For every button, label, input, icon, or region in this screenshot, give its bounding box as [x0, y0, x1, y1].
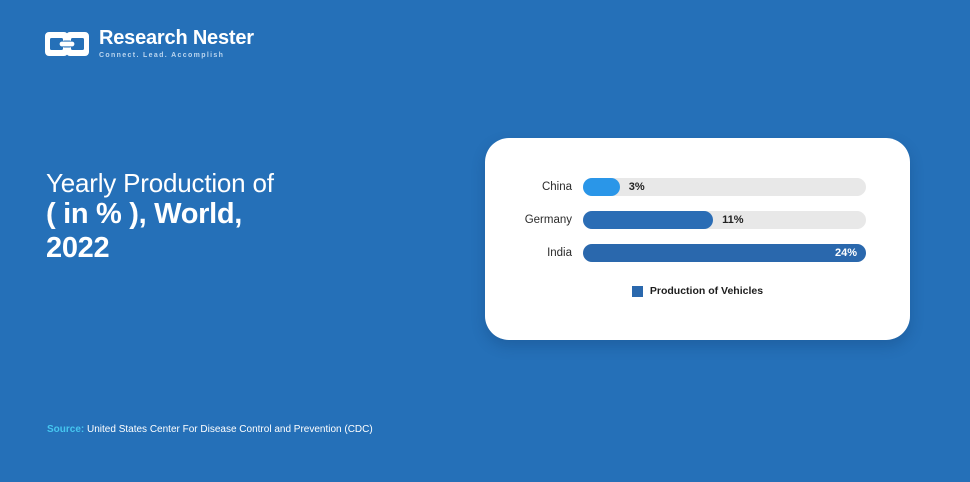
chart-card: China 3% Germany 11% India 24%	[485, 138, 910, 340]
brand-logo: Research Nester Connect. Lead. Accomplis…	[44, 28, 254, 61]
bar-value-label: 24%	[835, 247, 857, 259]
bar-category-label: Germany	[485, 214, 583, 226]
page-title: Yearly Production of ( in % ), World, 20…	[46, 168, 446, 266]
legend-swatch-icon	[632, 286, 643, 297]
bar-value-label: 11%	[722, 214, 743, 226]
bar-chart: China 3% Germany 11% India 24%	[485, 172, 910, 271]
bar-row: China 3%	[485, 172, 910, 202]
bar-fill	[583, 244, 866, 262]
source-label: Source:	[47, 424, 84, 435]
source-text: United States Center For Disease Control…	[87, 424, 373, 435]
bar-track: 11%	[583, 211, 866, 229]
brand-tagline: Connect. Lead. Accomplish	[99, 51, 254, 61]
bar-row: Germany 11%	[485, 205, 910, 235]
bar-row: India 24%	[485, 238, 910, 268]
bar-value-label: 3%	[629, 181, 645, 193]
brand-logo-text: Research Nester Connect. Lead. Accomplis…	[99, 28, 254, 61]
source-line: Source: United States Center For Disease…	[47, 423, 373, 436]
bar-category-label: China	[485, 181, 583, 193]
interlocking-links-logo-icon	[44, 29, 90, 59]
bar-track: 24%	[583, 244, 866, 262]
page-title-line-2: ( in % ), World,	[46, 198, 446, 232]
chart-legend: Production of Vehicles	[485, 285, 910, 297]
bar-fill	[583, 211, 713, 229]
legend-item-label: Production of Vehicles	[650, 285, 763, 297]
page-title-line-3: 2022	[46, 232, 446, 266]
infographic-canvas: Research Nester Connect. Lead. Accomplis…	[0, 0, 970, 482]
brand-name: Research Nester	[99, 28, 254, 49]
bar-category-label: India	[485, 247, 583, 259]
bar-fill	[583, 178, 620, 196]
page-title-line-1: Yearly Production of	[46, 168, 446, 198]
bar-track: 3%	[583, 178, 866, 196]
